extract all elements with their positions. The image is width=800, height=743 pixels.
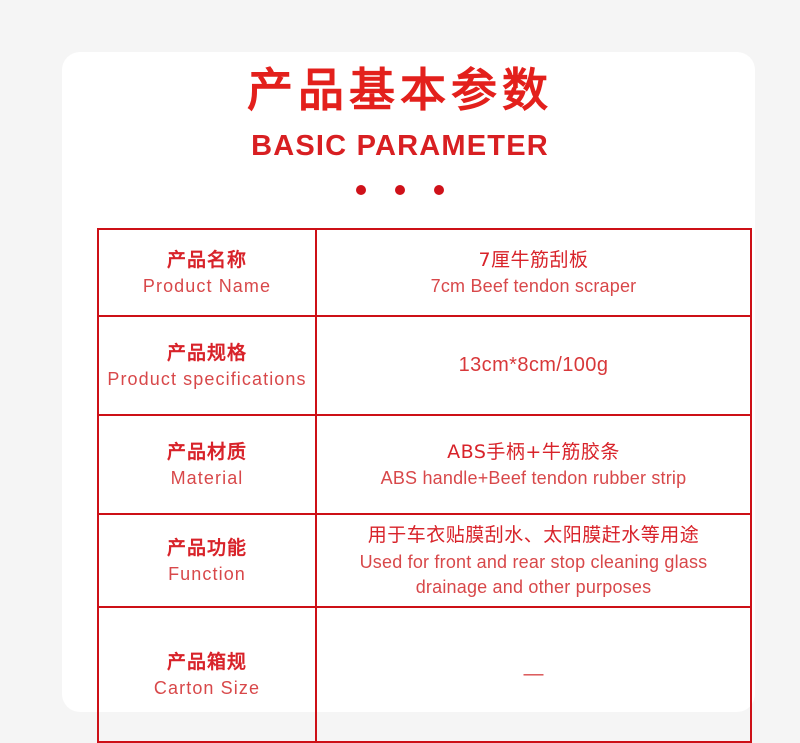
label-chinese: 产品材质	[107, 439, 307, 466]
row-label-function: 产品功能 Function	[98, 514, 316, 607]
table-row: 产品规格 Product specifications 13cm*8cm/100…	[98, 316, 751, 415]
value-english: Used for front and rear stop cleaning gl…	[325, 550, 742, 600]
row-label-product-name: 产品名称 Product Name	[98, 229, 316, 316]
label-english: Product Name	[107, 274, 307, 298]
row-label-material: 产品材质 Material	[98, 415, 316, 514]
row-label-carton-size: 产品箱规 Carton Size	[98, 607, 316, 742]
page-header: 产品基本参数 BASIC PARAMETER	[0, 0, 800, 195]
value-chinese: 7厘牛筋刮板	[325, 246, 742, 275]
value-english: 7cm Beef tendon scraper	[325, 274, 742, 299]
specification-table: 产品名称 Product Name 7厘牛筋刮板 7cm Beef tendon…	[97, 228, 752, 743]
value-english: ABS handle+Beef tendon rubber strip	[325, 466, 742, 491]
row-value-material: ABS手柄+牛筋胶条 ABS handle+Beef tendon rubber…	[316, 415, 751, 514]
label-english: Material	[107, 466, 307, 490]
value-text: 13cm*8cm/100g	[325, 354, 742, 377]
table-row: 产品材质 Material ABS手柄+牛筋胶条 ABS handle+Beef…	[98, 415, 751, 514]
label-chinese: 产品箱规	[107, 649, 307, 676]
row-value-product-name: 7厘牛筋刮板 7cm Beef tendon scraper	[316, 229, 751, 316]
value-chinese: 用于车衣贴膜刮水、太阳膜赶水等用途	[325, 521, 742, 550]
table-row: 产品功能 Function 用于车衣贴膜刮水、太阳膜赶水等用途 Used for…	[98, 514, 751, 607]
label-english: Function	[107, 562, 307, 586]
dot-icon	[356, 185, 366, 195]
row-value-carton-size: —	[316, 607, 751, 742]
dot-icon	[434, 185, 444, 195]
value-chinese: ABS手柄+牛筋胶条	[325, 438, 742, 467]
label-english: Carton Size	[107, 676, 307, 700]
label-english: Product specifications	[107, 367, 307, 391]
table-row: 产品名称 Product Name 7厘牛筋刮板 7cm Beef tendon…	[98, 229, 751, 316]
decorative-dots	[0, 163, 800, 195]
row-label-product-specifications: 产品规格 Product specifications	[98, 316, 316, 415]
row-value-function: 用于车衣贴膜刮水、太阳膜赶水等用途 Used for front and rea…	[316, 514, 751, 607]
value-empty-dash: —	[325, 663, 742, 686]
dot-icon	[395, 185, 405, 195]
label-chinese: 产品名称	[107, 247, 307, 274]
page-title-chinese: 产品基本参数	[0, 0, 800, 116]
page-root: 产品基本参数 BASIC PARAMETER 产品名称 Product Name…	[0, 0, 800, 740]
page-title-english: BASIC PARAMETER	[0, 116, 800, 163]
row-value-product-specifications: 13cm*8cm/100g	[316, 316, 751, 415]
table-row: 产品箱规 Carton Size —	[98, 607, 751, 742]
label-chinese: 产品规格	[107, 340, 307, 367]
label-chinese: 产品功能	[107, 535, 307, 562]
